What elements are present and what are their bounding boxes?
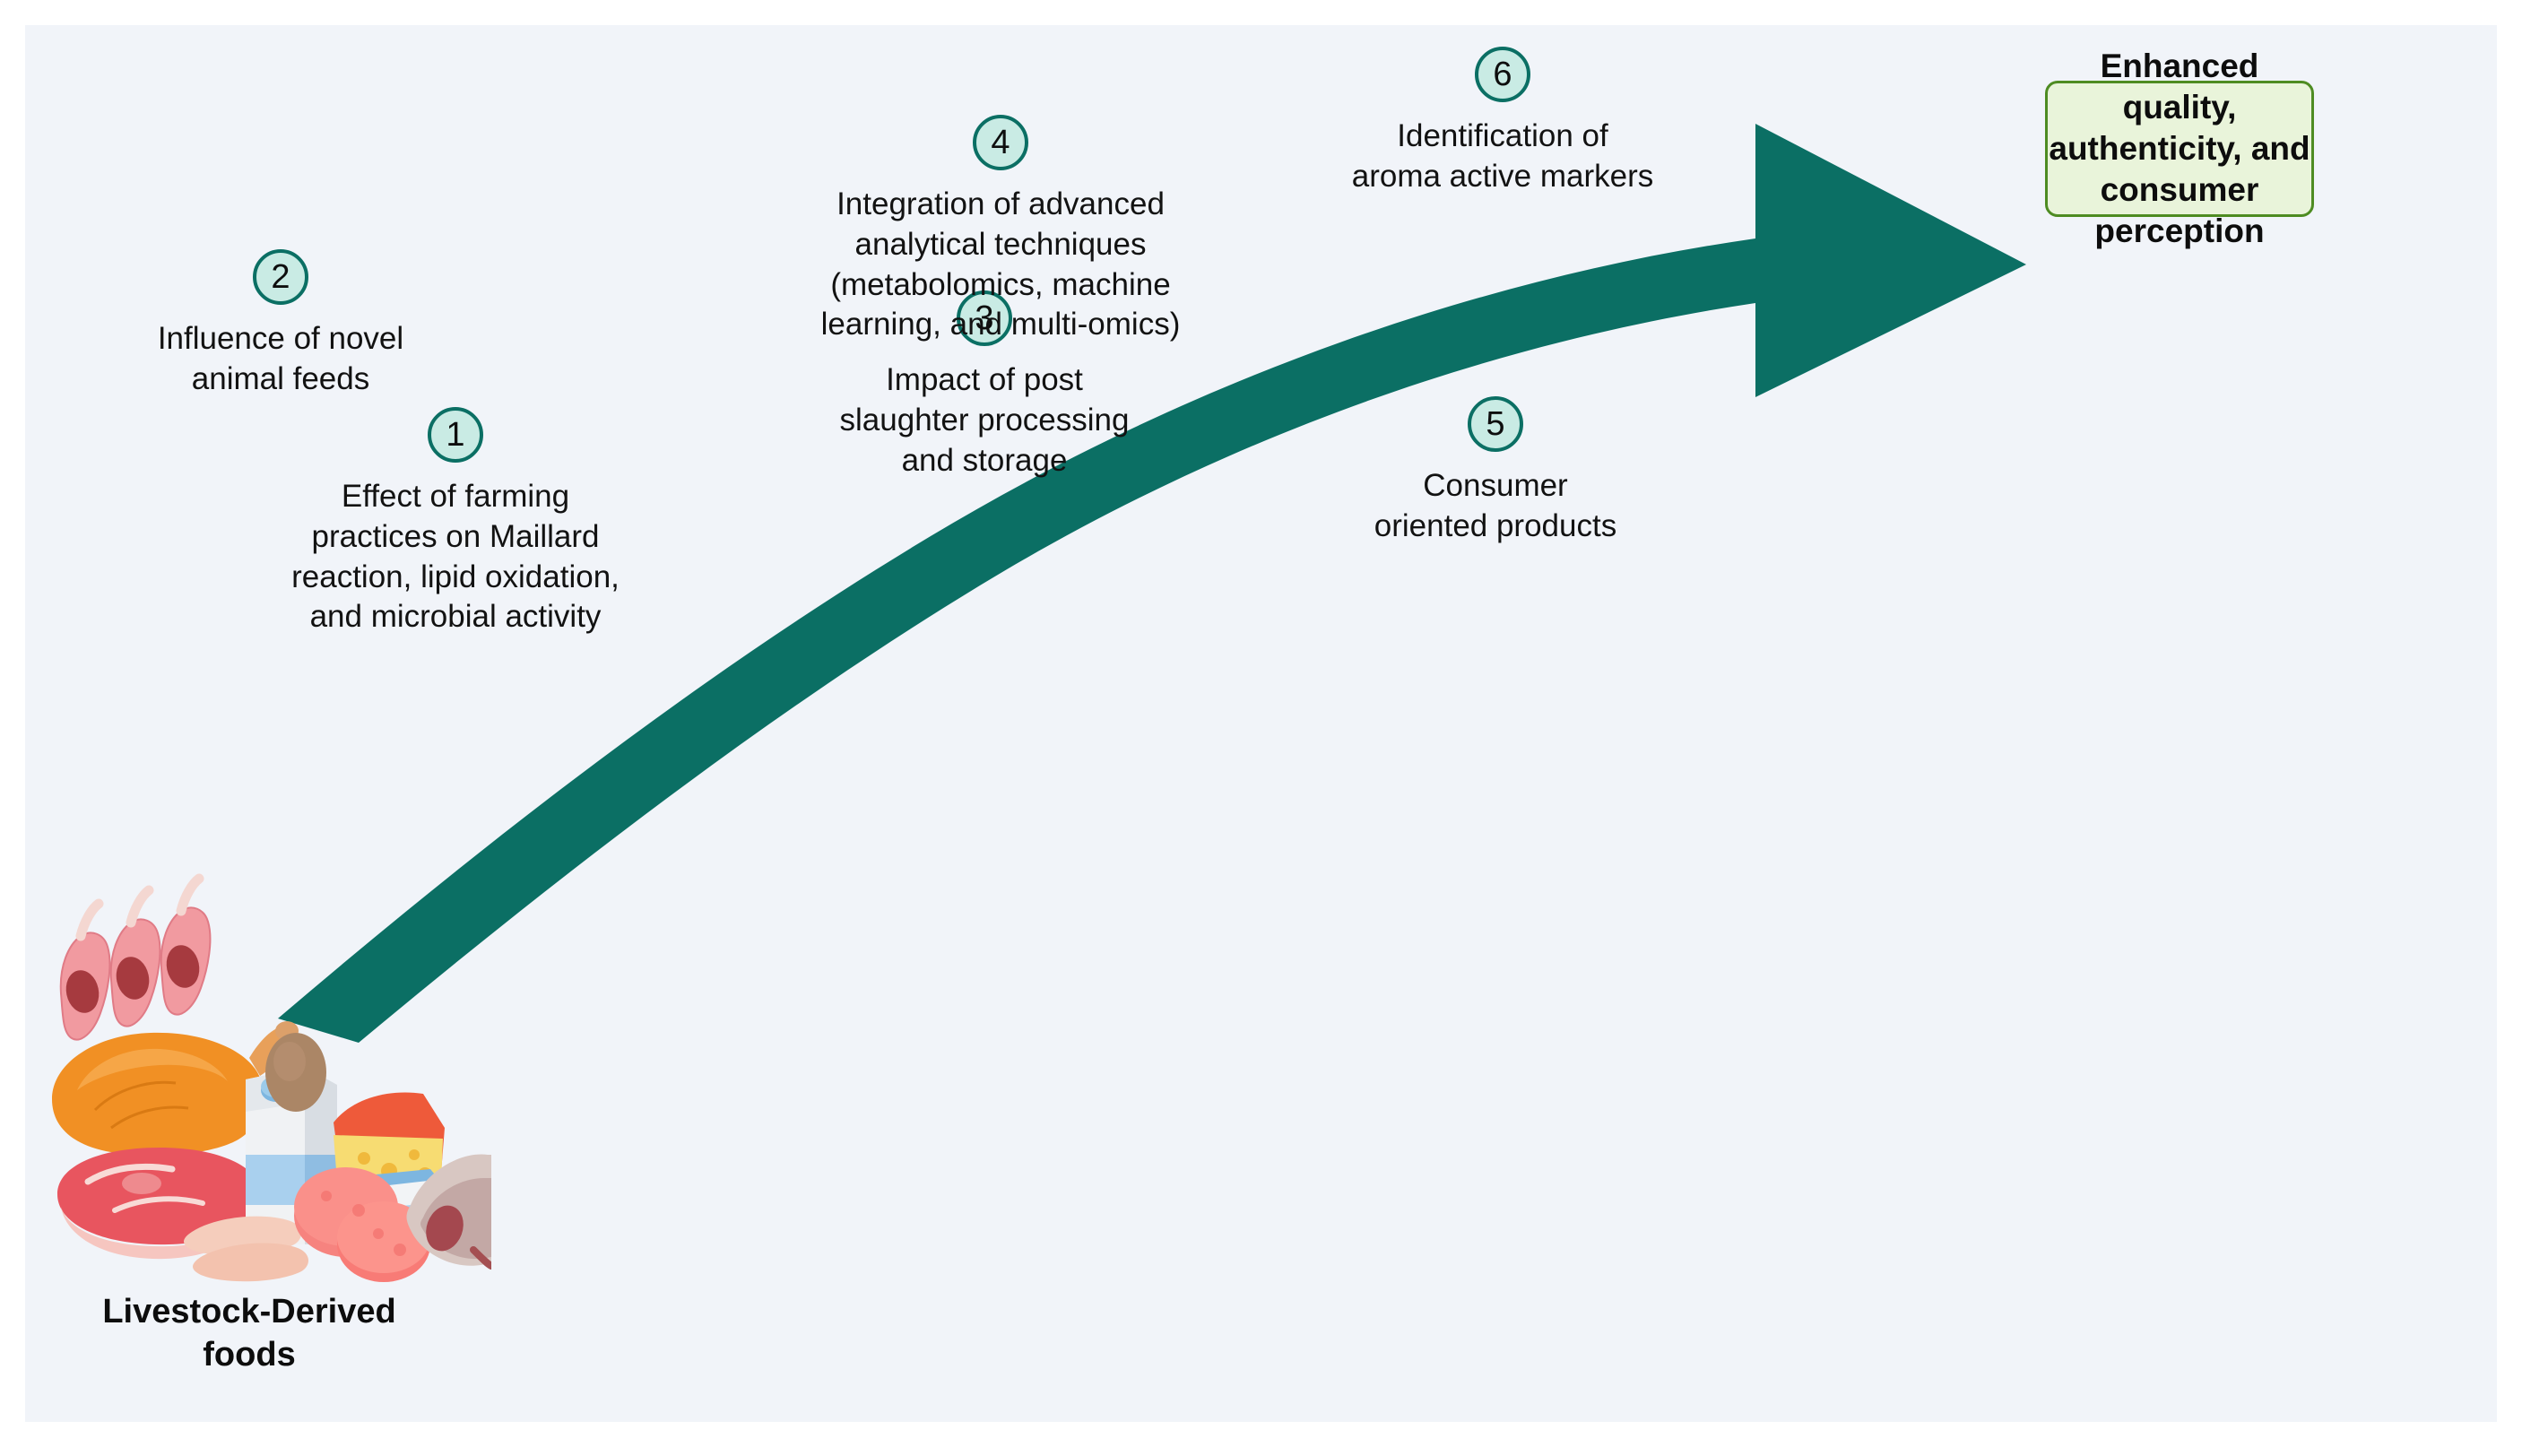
step-6-label: Identification of aroma active markers <box>1352 117 1653 197</box>
diagram-canvas: Livestock-Derived foods 1 Effect of farm… <box>25 25 2497 1422</box>
step-1-label: Effect of farming practices on Maillard … <box>291 477 620 637</box>
step-5[interactable]: 5 Consumer oriented products <box>1316 396 1675 547</box>
step-1[interactable]: 1 Effect of farming practices on Maillar… <box>267 407 644 637</box>
step-4-badge: 4 <box>973 115 1028 170</box>
step-2[interactable]: 2 Influence of novel animal feeds <box>115 249 446 400</box>
step-3-label: Impact of post slaughter processing and … <box>840 360 1130 481</box>
source-label: Livestock-Derived foods <box>61 1291 438 1376</box>
step-6-badge: 6 <box>1475 47 1530 102</box>
step-2-label: Influence of novel animal feeds <box>158 319 403 400</box>
step-4-label: Integration of advanced analytical techn… <box>821 185 1181 345</box>
egg-icon <box>263 1031 329 1114</box>
step-1-badge: 1 <box>428 407 483 463</box>
step-2-badge: 2 <box>253 249 308 305</box>
outcome-text: Enhanced quality, authenticity, and cons… <box>2048 46 2311 251</box>
livestock-foods-illustration <box>25 859 491 1289</box>
outcome-box[interactable]: Enhanced quality, authenticity, and cons… <box>2045 81 2314 217</box>
step-5-badge: 5 <box>1468 396 1523 452</box>
step-4[interactable]: 4 Integration of advanced analytical tec… <box>794 115 1207 345</box>
step-5-label: Consumer oriented products <box>1374 466 1616 547</box>
step-6[interactable]: 6 Identification of aroma active markers <box>1323 47 1682 197</box>
lamb-chops-icon <box>61 879 211 1040</box>
